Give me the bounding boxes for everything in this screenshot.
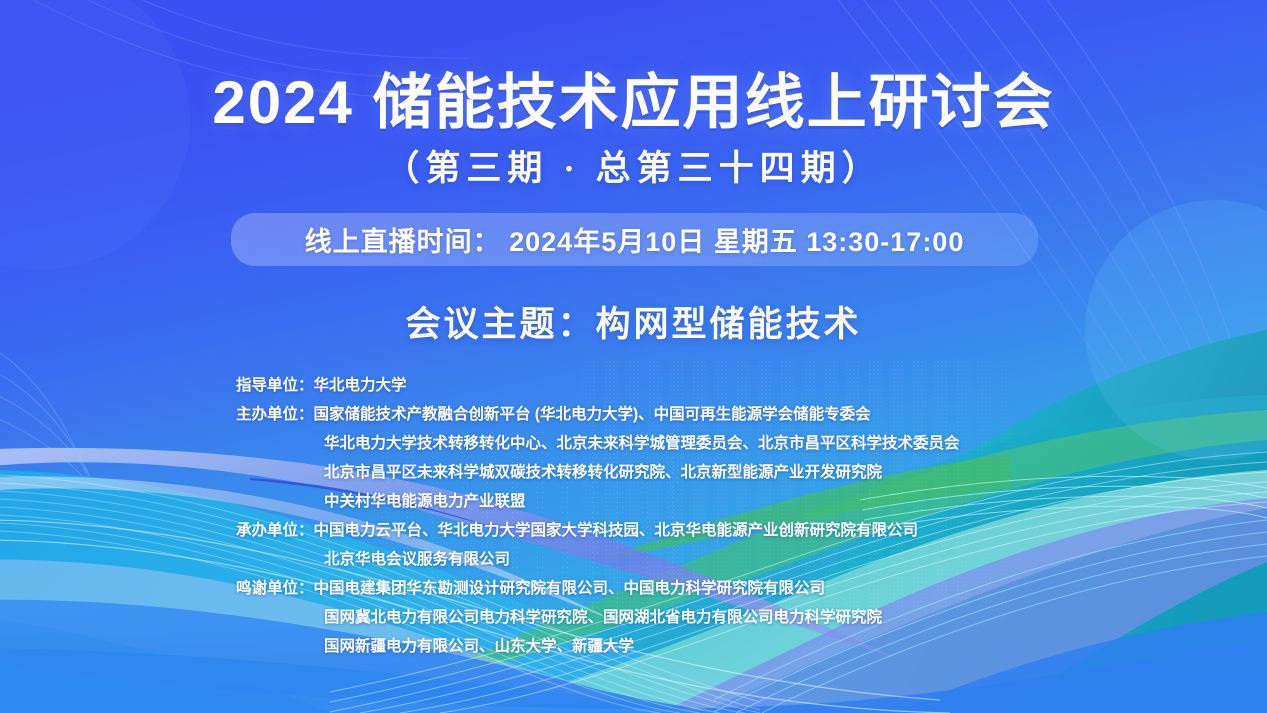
org-line: 承办单位：中国电力云平台、华北电力大学国家大学科技园、北京华电能源产业创新研究院… — [236, 516, 960, 545]
arc-lines-left — [0, 330, 136, 558]
org-line: 中关村华电能源电力产业联盟 — [236, 487, 960, 516]
live-time-text: 线上直播时间： 2024年5月10日 星期五 13:30-17:00 — [305, 220, 965, 259]
live-time-banner: 线上直播时间： 2024年5月10日 星期五 13:30-17:00 — [231, 213, 1038, 266]
org-block-host: 主办单位：国家储能技术产教融合创新平台 (华北电力大学)、中国可再生能源学会储能… — [236, 400, 960, 516]
conference-poster: 2024 储能技术应用线上研讨会 （第三期 · 总第三十四期） 线上直播时间： … — [0, 0, 1267, 713]
org-line: 华北电力大学技术转移转化中心、北京未来科学城管理委员会、北京市昌平区科学技术委员… — [236, 429, 960, 458]
page-title: 2024 储能技术应用线上研讨会 — [0, 54, 1267, 141]
org-block-acknowledgement: 鸣谢单位：中国电建集团华东勘测设计研究院有限公司、中国电力科学研究院有限公司 国… — [236, 574, 960, 661]
org-line: 北京市昌平区未来科学城双碳技术转移转化研究院、北京新型能源产业开发研究院 — [236, 458, 960, 487]
org-line: 鸣谢单位：中国电建集团华东勘测设计研究院有限公司、中国电力科学研究院有限公司 — [236, 574, 960, 603]
organizations-list: 指导单位：华北电力大学 主办单位：国家储能技术产教融合创新平台 (华北电力大学)… — [236, 371, 960, 661]
org-line: 国网冀北电力有限公司电力科学研究院、国网湖北省电力有限公司电力科学研究院 — [236, 603, 960, 632]
org-line: 主办单位：国家储能技术产教融合创新平台 (华北电力大学)、中国可再生能源学会储能… — [236, 400, 960, 429]
org-line: 北京华电会议服务有限公司 — [236, 545, 960, 574]
org-line: 指导单位：华北电力大学 — [236, 371, 960, 400]
page-subtitle: （第三期 · 总第三十四期） — [0, 140, 1267, 191]
org-block-organizer: 承办单位：中国电力云平台、华北电力大学国家大学科技园、北京华电能源产业创新研究院… — [236, 516, 960, 574]
conference-theme: 会议主题：构网型储能技术 — [0, 296, 1267, 347]
org-line: 国网新疆电力有限公司、山东大学、新疆大学 — [236, 632, 960, 661]
org-block-guidance: 指导单位：华北电力大学 — [236, 371, 960, 400]
